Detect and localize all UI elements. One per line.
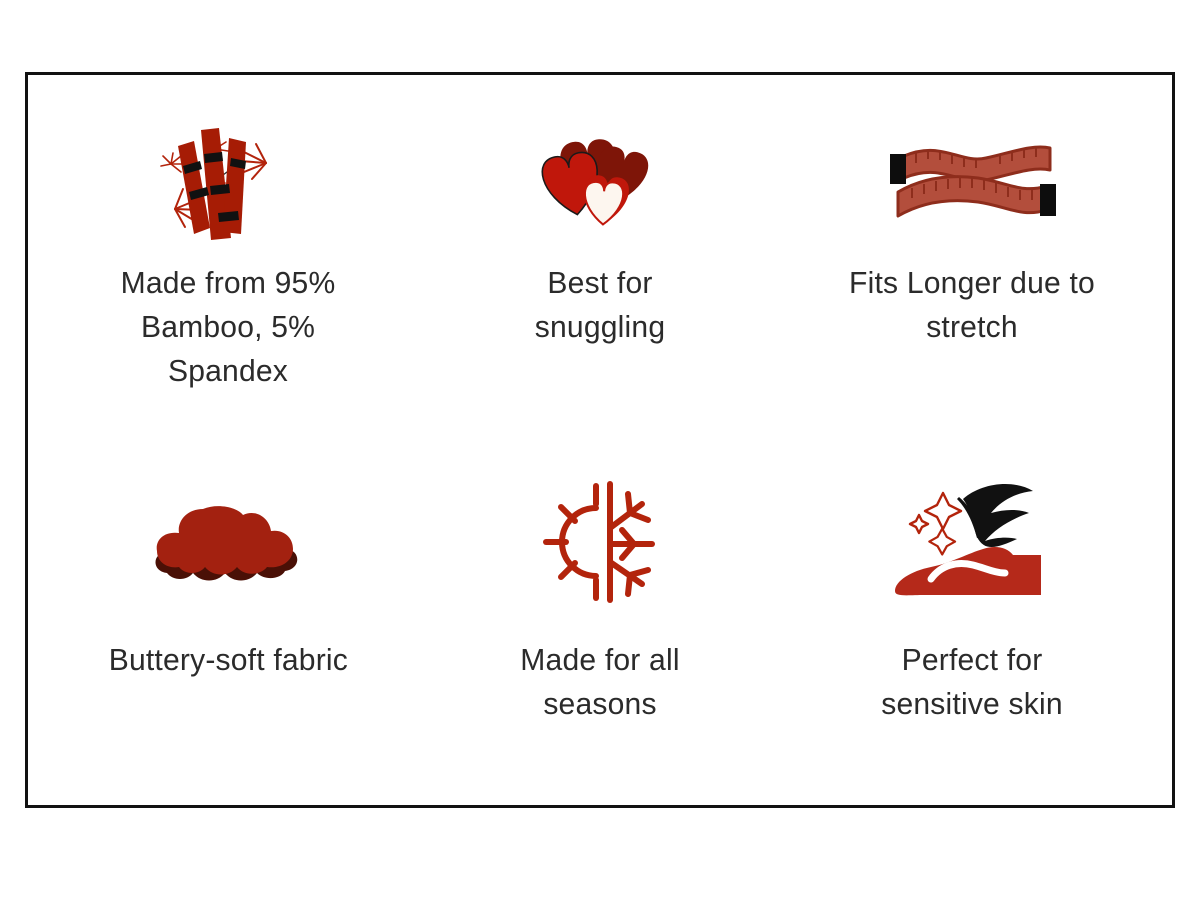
feature-caption: Made from 95% Bamboo, 5% Spandex xyxy=(83,261,374,393)
feature-caption: Fits Longer due to stretch xyxy=(827,261,1118,349)
measuring-tape-icon xyxy=(872,111,1072,251)
feature-card-sensitive-skin: Perfect for sensitive skin xyxy=(786,436,1158,787)
feature-card-snuggling: Best for snuggling xyxy=(414,85,786,436)
feature-card-all-seasons: Made for all seasons xyxy=(414,436,786,787)
feature-caption: Perfect for sensitive skin xyxy=(851,638,1094,726)
sun-snowflake-icon xyxy=(500,472,700,612)
feature-grid-page: Made from 95% Bamboo, 5% Spandex xyxy=(0,0,1200,900)
content-frame: Made from 95% Bamboo, 5% Spandex xyxy=(25,72,1175,808)
cloud-icon xyxy=(128,472,328,612)
feature-card-bamboo: Made from 95% Bamboo, 5% Spandex xyxy=(42,85,414,436)
hearts-icon xyxy=(500,111,700,251)
feature-card-stretch: Fits Longer due to stretch xyxy=(786,85,1158,436)
feature-caption: Best for snuggling xyxy=(488,261,711,349)
feature-caption: Made for all seasons xyxy=(484,638,717,726)
features-grid: Made from 95% Bamboo, 5% Spandex xyxy=(28,75,1172,805)
feature-card-soft: Buttery-soft fabric xyxy=(42,436,414,787)
bamboo-icon xyxy=(128,111,328,251)
feature-caption: Buttery-soft fabric xyxy=(108,638,347,682)
hand-feather-icon xyxy=(872,472,1072,612)
